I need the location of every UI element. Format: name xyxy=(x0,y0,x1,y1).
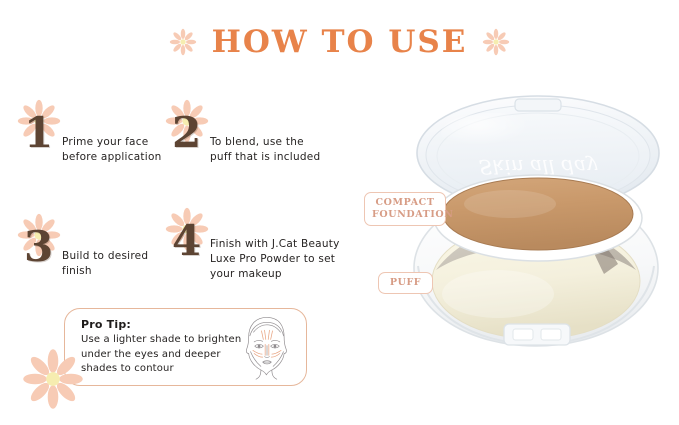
step-number: 2 xyxy=(172,112,201,154)
step-text: To blend, use the puff that is included xyxy=(210,135,350,165)
callout-puff: PUFF xyxy=(378,272,433,294)
step-number: 1 xyxy=(24,112,53,154)
step-number: 3 xyxy=(24,226,53,268)
title-flower-left-icon xyxy=(168,27,198,57)
face-contour-diagram-icon xyxy=(236,315,298,386)
step-4: 4 Finish with J.Cat Beauty Luxe Pro Powd… xyxy=(158,206,348,296)
pro-tip-heading: Pro Tip: xyxy=(81,318,131,331)
step-text: Finish with J.Cat Beauty Luxe Pro Powder… xyxy=(210,237,360,282)
how-to-use-infographic: HOW TO USE xyxy=(0,0,679,425)
title-flower-right-icon xyxy=(481,27,511,57)
page-title: HOW TO USE xyxy=(212,27,468,58)
step-number: 4 xyxy=(172,220,201,262)
corner-flower-icon xyxy=(22,348,84,410)
page-title-row: HOW TO USE xyxy=(0,18,679,66)
callout-compact-foundation: COMPACT FOUNDATION xyxy=(364,192,446,226)
pro-tip-body: Use a lighter shade to brighten under th… xyxy=(81,333,261,377)
step-2: 2 To blend, use the puff that is include… xyxy=(158,98,348,188)
pro-tip-box: Pro Tip: Use a lighter shade to brighten… xyxy=(64,308,307,386)
